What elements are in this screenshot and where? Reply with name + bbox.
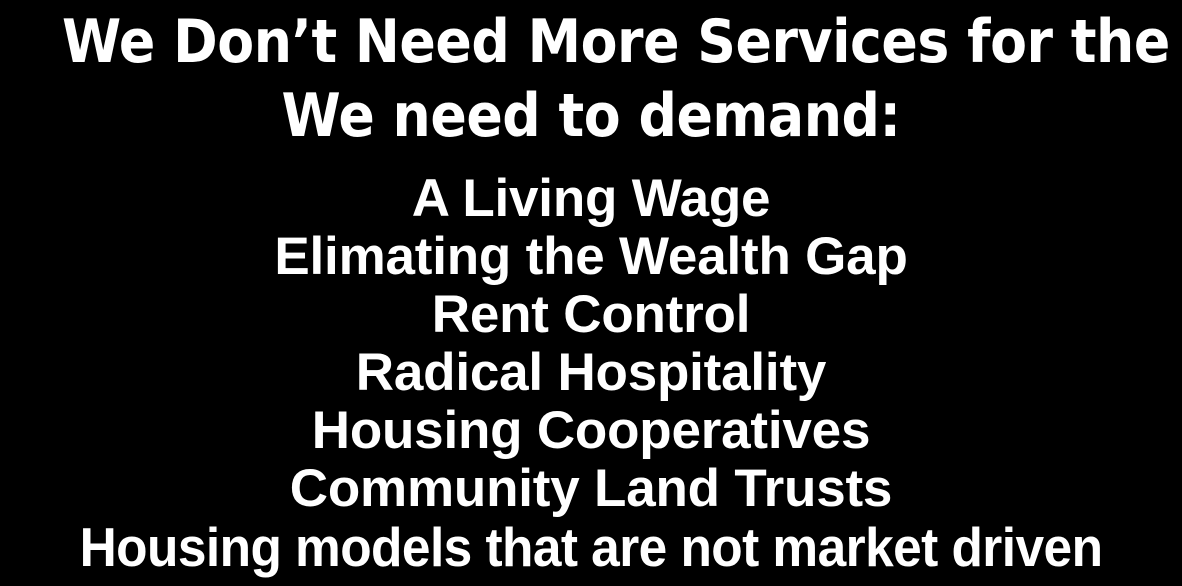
demand-item: Housing models that are not market drive… xyxy=(38,518,1143,576)
demand-item: Rent Control xyxy=(0,286,1182,344)
headline-secondary: We need to demand: xyxy=(62,86,1120,146)
demand-item: Housing Cooperatives xyxy=(0,402,1182,460)
headline-primary: We Don’t Need More Services for the Unho… xyxy=(62,12,1120,72)
header-block: We Don’t Need More Services for the Unho… xyxy=(0,0,1182,146)
demand-item: Community Land Trusts xyxy=(0,460,1182,518)
demand-item: Radical Hospitality xyxy=(0,344,1182,402)
demand-item: A Living Wage xyxy=(0,170,1182,228)
demand-list: A Living Wage Elimating the Wealth Gap R… xyxy=(0,170,1182,576)
demand-item: Elimating the Wealth Gap xyxy=(0,228,1182,286)
slide-canvas: We Don’t Need More Services for the Unho… xyxy=(0,0,1182,586)
